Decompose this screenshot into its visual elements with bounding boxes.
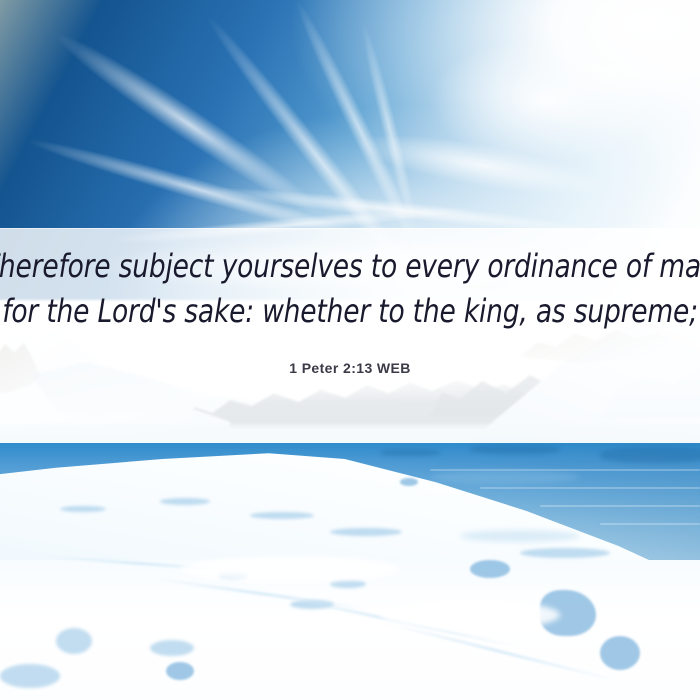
snow-crevasse-shadow <box>470 560 510 578</box>
water-dark-patch <box>600 447 700 463</box>
water-surface-streak <box>480 487 700 489</box>
snow-shadow-mark <box>160 498 210 505</box>
snow-highlight-area <box>380 600 560 630</box>
snow-shadow-mark <box>250 512 314 519</box>
snow-highlight-area <box>180 556 400 582</box>
water-dark-patch <box>470 445 560 454</box>
snow-crevasse-shadow <box>56 628 92 654</box>
verse-line-1: Therefore subject yourselves to every or… <box>0 244 700 289</box>
verse-reference: 1 Peter 2:13 WEB <box>289 360 411 376</box>
snow-shadow-mark <box>0 664 60 688</box>
snow-shadow-mark <box>60 506 106 512</box>
water-dark-patch <box>380 449 440 456</box>
snow-shadow-mark <box>330 528 402 536</box>
snow-shadow-mark <box>430 470 580 484</box>
verse-image-canvas: Therefore subject yourselves to every or… <box>0 0 700 700</box>
verse-text-block: Therefore subject yourselves to every or… <box>0 228 700 443</box>
verse-line-2: for the Lord's sake: whether to the king… <box>2 289 698 334</box>
snow-crevasse-shadow <box>400 478 418 486</box>
snow-crevasse-shadow <box>600 636 640 670</box>
snow-shadow-mark <box>460 530 580 542</box>
snow-shadow-mark <box>330 580 366 588</box>
snow-shadow-mark <box>150 640 194 656</box>
water-surface-streak <box>600 523 700 525</box>
snow-crevasse-shadow <box>166 662 194 680</box>
water-surface-streak <box>540 505 700 507</box>
snow-shadow-mark <box>520 548 610 558</box>
